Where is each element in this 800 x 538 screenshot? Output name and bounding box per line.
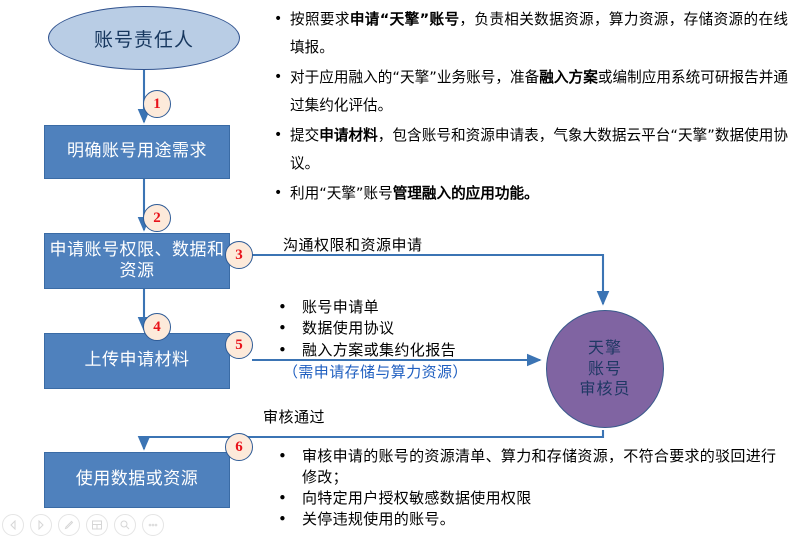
slideshow-toolbar[interactable] [2,514,164,536]
materials-items: 账号申请单数据使用协议融入方案或集约化报告 [272,297,537,361]
zoom-tool-button[interactable] [114,514,136,536]
pen-tool-button[interactable] [58,514,80,536]
node-auditor-line1: 天擎 [579,338,630,359]
top-note-run-3-2: 申请材料 [319,127,378,144]
material-item-2: 数据使用协议 [272,318,537,339]
node-account-owner-label: 账号责任人 [94,25,194,52]
top-note-item-2: 对于应用融入的“天擎”业务账号，准备融入方案或编制应用系统可研报告并通过集约化评… [272,64,788,120]
material-item-1: 账号申请单 [272,297,537,318]
materials-list: 账号申请单数据使用协议融入方案或集约化报告 [272,297,537,361]
node-apply-permissions-label: 申请账号权限、数据和资源 [45,240,229,283]
top-note-run-2-2: 融入方案 [539,69,598,86]
slide-canvas: 账号责任人 明确账号用途需求 申请账号权限、数据和资源 上传申请材料 使用数据或… [0,0,800,538]
top-note-run-2-1: 对于应用融入的“天擎”业务账号，准备 [290,69,539,86]
audit-note-item-2: 向特定用户授权敏感数据使用权限 [272,488,788,509]
top-notes-items: 按照要求申请“天擎”账号，负责相关数据资源，算力资源，存储资源的在线填报。对于应… [272,6,788,208]
node-apply-permissions[interactable]: 申请账号权限、数据和资源 [44,233,230,289]
top-note-run-3-1: 提交 [290,127,319,144]
grid-icon [91,519,103,531]
node-clarify-purpose[interactable]: 明确账号用途需求 [44,125,230,179]
step-badge-4[interactable]: 4 [143,313,171,341]
audit-note-item-3: 关停违规使用的账号。 [272,509,788,530]
top-notes-list: 按照要求申请“天擎”账号，负责相关数据资源，算力资源，存储资源的在线填报。对于应… [272,6,788,210]
triangle-left-icon [8,520,18,530]
edge-label-communicate: 沟通权限和资源申请 [283,234,423,255]
triangle-right-icon [36,520,46,530]
node-auditor-line3: 审核员 [579,379,630,400]
pen-icon [63,519,75,531]
audit-notes-items: 审核申请的账号的资源清单、算力和存储资源，不符合要求的驳回进行修改；向特定用户授… [272,446,788,530]
materials-note: （需申请存储与算力资源） [283,361,468,382]
audit-note-item-1: 审核申请的账号的资源清单、算力和存储资源，不符合要求的驳回进行修改； [272,446,788,488]
previous-slide-button[interactable] [2,514,24,536]
top-note-item-1: 按照要求申请“天擎”账号，负责相关数据资源，算力资源，存储资源的在线填报。 [272,6,788,62]
node-auditor-line2: 账号 [579,359,630,380]
next-slide-button[interactable] [30,514,52,536]
ellipsis-icon [147,519,159,531]
node-auditor[interactable]: 天擎 账号 审核员 [546,310,664,428]
node-upload-materials[interactable]: 上传申请材料 [44,333,230,389]
material-item-3: 融入方案或集约化报告 [272,340,537,361]
top-note-item-4: 利用“天擎”账号管理融入的应用功能。 [272,180,788,208]
audit-notes-list: 审核申请的账号的资源清单、算力和存储资源，不符合要求的驳回进行修改；向特定用户授… [272,446,788,530]
edge-label-approved: 审核通过 [263,406,325,427]
top-note-run-4-1: 利用“天擎”账号 [290,185,393,202]
magnifier-icon [119,519,131,531]
more-options-button[interactable] [142,514,164,536]
top-note-run-1-2: 申请“天擎”账号 [350,11,460,28]
top-note-item-3: 提交申请材料，包含账号和资源申请表，气象大数据云平台“天擎”数据使用协议。 [272,122,788,178]
step-badge-3[interactable]: 3 [225,241,253,269]
node-use-data-label: 使用数据或资源 [76,469,199,490]
all-slides-button[interactable] [86,514,108,536]
top-note-run-1-1: 按照要求 [290,11,350,28]
node-auditor-label: 天擎 账号 审核员 [579,338,630,400]
node-account-owner[interactable]: 账号责任人 [48,6,240,70]
step-badge-1[interactable]: 1 [143,90,171,118]
node-upload-materials-label: 上传申请材料 [85,350,190,371]
node-use-data[interactable]: 使用数据或资源 [44,452,230,508]
step-badge-6[interactable]: 6 [225,433,253,461]
step-badge-2[interactable]: 2 [143,204,171,232]
node-clarify-purpose-label: 明确账号用途需求 [67,141,207,162]
step-badge-5[interactable]: 5 [225,331,253,359]
top-note-run-4-2: 管理融入的应用功能。 [393,185,539,202]
